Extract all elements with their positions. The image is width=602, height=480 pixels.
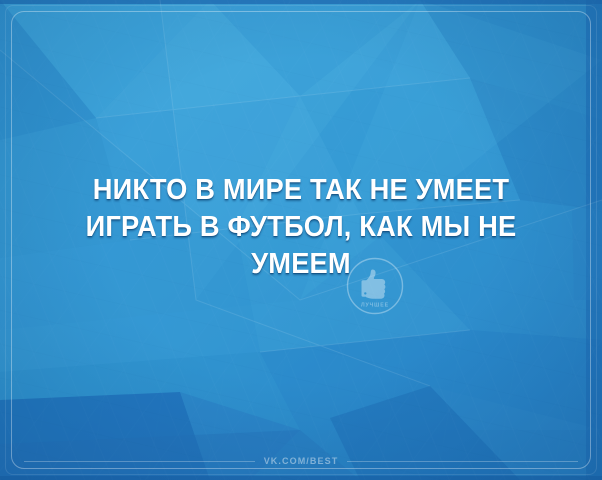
footer-watermark-text: VK.COM/BEST bbox=[264, 456, 339, 466]
footer-rule-right bbox=[347, 461, 578, 462]
headline-line-3: УМЕЕМ bbox=[35, 246, 567, 283]
headline-text: НИКТО В МИРЕ ТАК НЕ УМЕЕТ ИГРАТЬ В ФУТБО… bbox=[0, 172, 602, 283]
stamp-caption: ЛУЧШЕЕ bbox=[361, 303, 389, 309]
meme-image: НИКТО В МИРЕ ТАК НЕ УМЕЕТ ИГРАТЬ В ФУТБО… bbox=[0, 0, 602, 480]
footer-rule-left bbox=[24, 461, 255, 462]
footer-watermark: VK.COM/BEST bbox=[0, 454, 602, 468]
headline-line-1: НИКТО В МИРЕ ТАК НЕ УМЕЕТ bbox=[35, 172, 567, 209]
headline-line-2: ИГРАТЬ В ФУТБОЛ, КАК МЫ НЕ bbox=[35, 209, 567, 246]
